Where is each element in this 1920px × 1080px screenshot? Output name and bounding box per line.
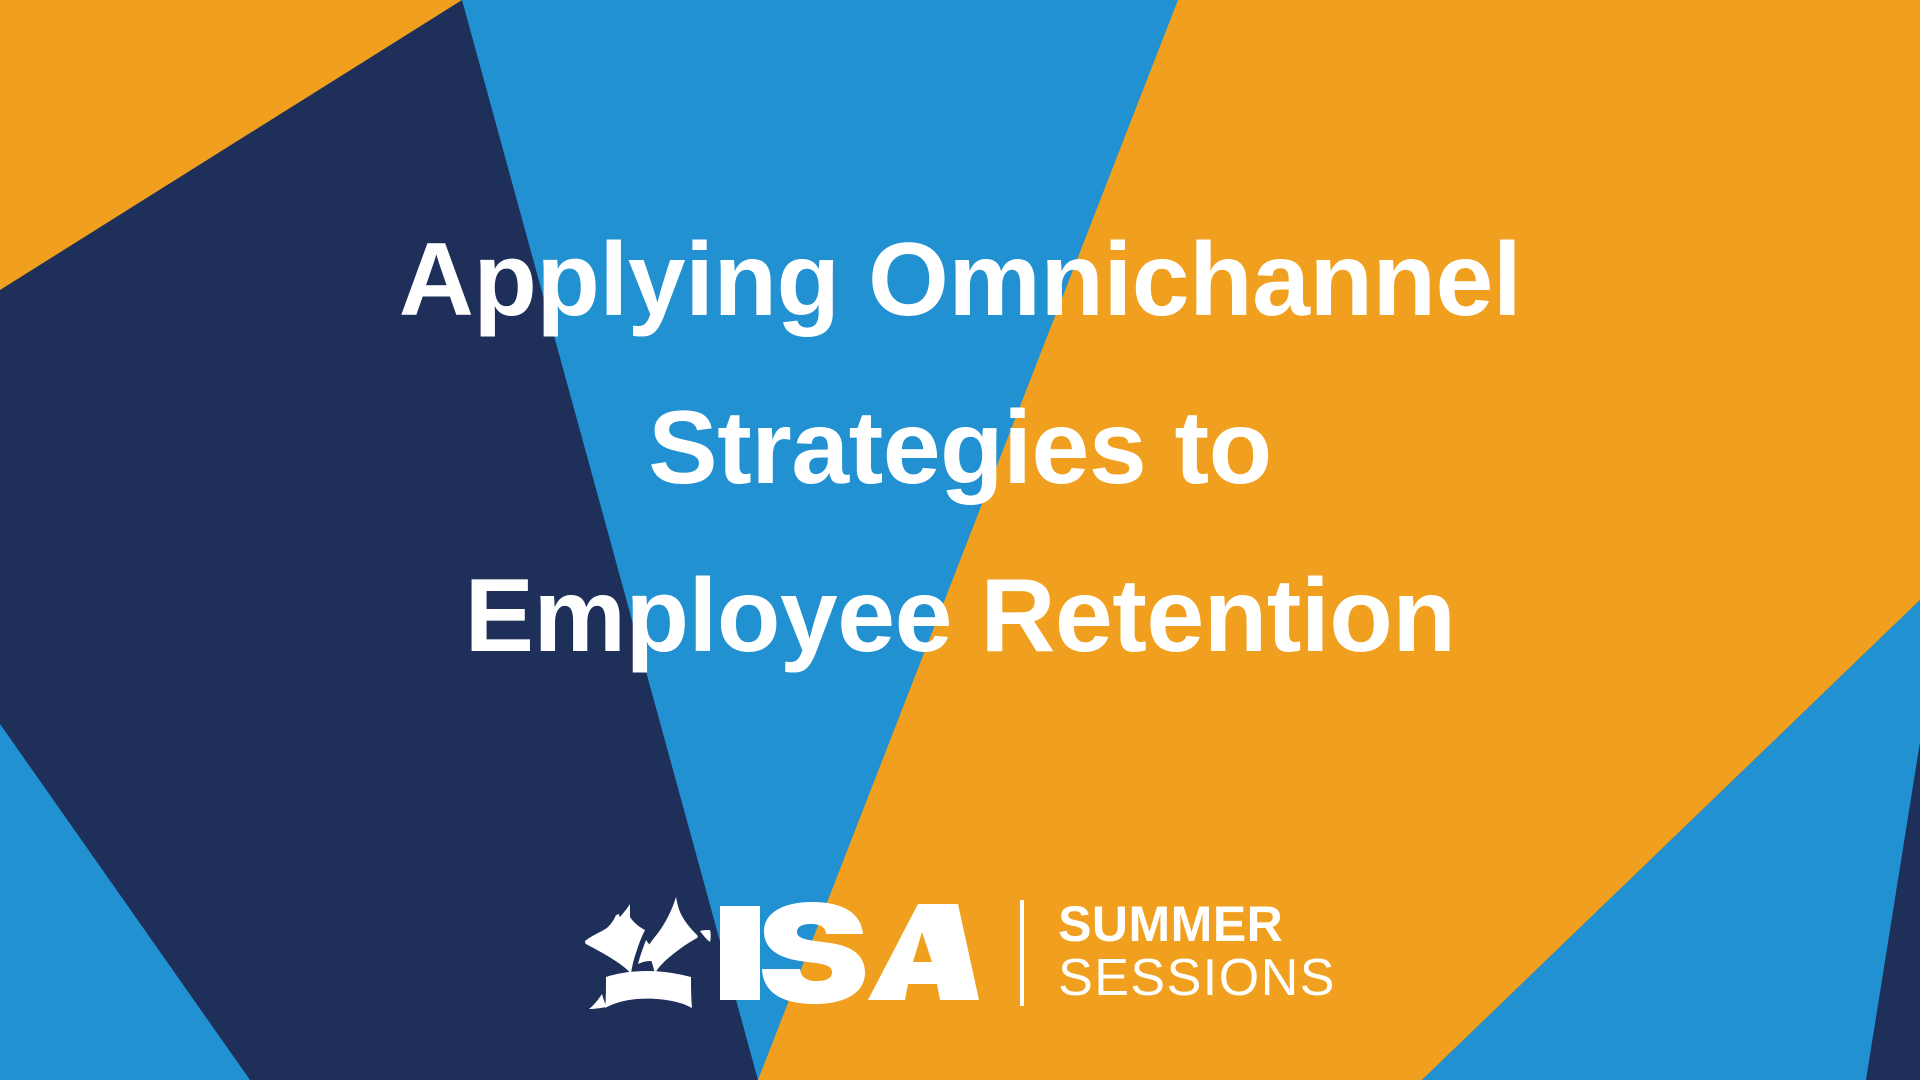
isa-wordmark xyxy=(718,900,980,1006)
logo-inner: SUMMER SESSIONS xyxy=(584,889,1336,1017)
isa-emblem-icon xyxy=(584,894,712,1012)
program-line-sessions: SESSIONS xyxy=(1058,950,1336,1006)
program-name: SUMMER SESSIONS xyxy=(1058,898,1336,1008)
title-slide: Applying Omnichannel Strategies to Emplo… xyxy=(0,0,1920,1080)
logo-divider xyxy=(1020,900,1024,1006)
logo-lockup: SUMMER SESSIONS xyxy=(0,878,1920,1028)
program-line-summer: SUMMER xyxy=(1058,898,1336,950)
